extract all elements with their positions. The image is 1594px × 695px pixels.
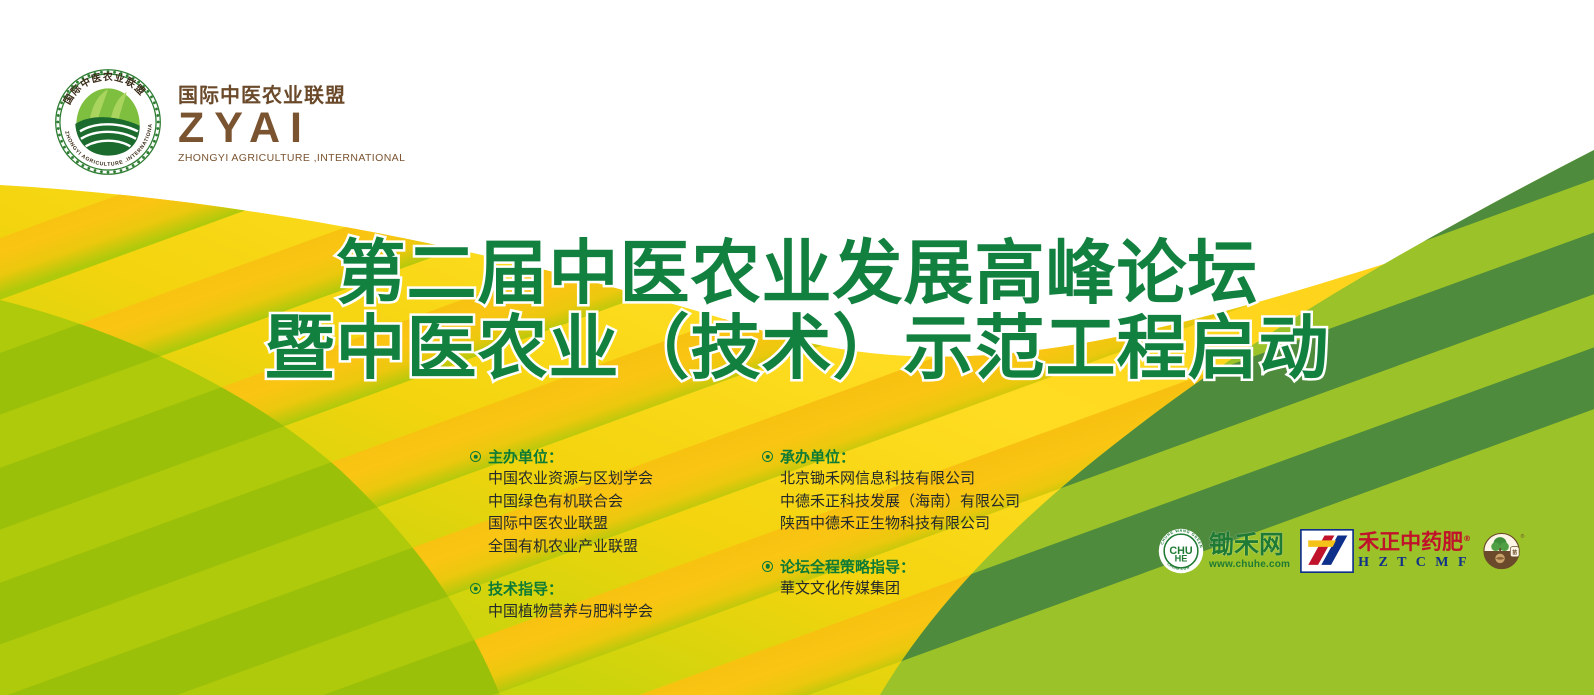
info-heading-strategy-guidance: 论坛全程策略指导：: [762, 557, 1024, 577]
bullet-icon: [762, 451, 773, 462]
list-item: 華文文化传媒集团: [780, 577, 1024, 600]
bullet-icon: [762, 561, 773, 572]
info-heading-host: 主办单位：: [470, 447, 732, 467]
list-item: 中国绿色有机联合会: [488, 490, 732, 513]
info-heading-label: 主办单位：: [488, 447, 563, 467]
chuhe-circle-logo-icon: CHUHE WANG GREEN CHUHE.COM CHU HE: [1158, 528, 1204, 574]
sponsor-tree-seed: 苗 ®: [1481, 529, 1525, 573]
info-group-technical-guidance: 技术指导： 中国植物营养与肥料学会: [470, 579, 732, 622]
sponsor-chuhe: CHUHE WANG GREEN CHUHE.COM CHU HE 锄禾网 ww…: [1158, 528, 1290, 574]
organizer-info: 主办单位： 中国农业资源与区划学会 中国绿色有机联合会 国际中医农业联盟 全国有…: [470, 447, 1024, 622]
sponsor-chuhe-url: www.chuhe.com: [1209, 560, 1290, 570]
info-heading-label: 承办单位：: [780, 447, 855, 467]
info-list-host: 中国农业资源与区划学会 中国绿色有机联合会 国际中医农业联盟 全国有机农业产业联…: [470, 467, 732, 557]
info-column-right: 承办单位： 北京锄禾网信息科技有限公司 中德禾正科技发展（海南）有限公司 陕西中…: [762, 447, 1024, 622]
zyai-logo-text: 国际中医农业联盟 ZYAI ZHONGYI AGRICULTURE ,INTER…: [178, 81, 405, 164]
info-heading-label: 技术指导：: [488, 579, 563, 599]
info-column-left: 主办单位： 中国农业资源与区划学会 中国绿色有机联合会 国际中医农业联盟 全国有…: [470, 447, 732, 622]
list-item: 陕西中德禾正生物科技有限公司: [780, 512, 1024, 535]
info-list-organizer: 北京锄禾网信息科技有限公司 中德禾正科技发展（海南）有限公司 陕西中德禾正生物科…: [762, 467, 1024, 535]
sponsor-hztcmf-name: 禾正中药肥®: [1358, 532, 1471, 553]
bullet-icon: [470, 583, 481, 594]
svg-text:®: ®: [1521, 533, 1525, 540]
zyai-emblem-icon: 国际中医农业联盟 ZHONGYI AGRICULTURE .INTERNATIO…: [52, 66, 164, 178]
info-heading-label: 论坛全程策略指导：: [780, 557, 915, 577]
list-item: 中国植物营养与肥料学会: [488, 600, 732, 623]
svg-text:HE: HE: [1175, 554, 1188, 564]
info-list-technical-guidance: 中国植物营养与肥料学会: [470, 600, 732, 623]
tree-seed-circle-logo-icon: 苗 ®: [1481, 529, 1525, 573]
sponsor-chuhe-name: 锄禾网: [1209, 532, 1290, 557]
list-item: 北京锄禾网信息科技有限公司: [780, 467, 1024, 490]
info-group-strategy-guidance: 论坛全程策略指导： 華文文化传媒集团: [762, 557, 1024, 600]
list-item: 中国农业资源与区划学会: [488, 467, 732, 490]
zyai-acronym: ZYAI: [178, 107, 405, 150]
bullet-icon: [470, 451, 481, 462]
zyai-org-name-en: ZHONGYI AGRICULTURE ,INTERNATIONAL: [178, 153, 405, 164]
sponsor-logos: CHUHE WANG GREEN CHUHE.COM CHU HE 锄禾网 ww…: [1158, 528, 1525, 574]
sponsor-hztcmf: 禾正中药肥® H Z T C M F: [1300, 529, 1471, 573]
sponsor-hztcmf-acronym: H Z T C M F: [1358, 556, 1471, 570]
zyai-logo: 国际中医农业联盟 ZHONGYI AGRICULTURE .INTERNATIO…: [52, 66, 405, 178]
info-group-organizer: 承办单位： 北京锄禾网信息科技有限公司 中德禾正科技发展（海南）有限公司 陕西中…: [762, 447, 1024, 535]
registered-mark-icon: ®: [1463, 534, 1471, 543]
poster-canvas: 国际中医农业联盟 ZHONGYI AGRICULTURE .INTERNATIO…: [0, 0, 1594, 695]
info-group-host: 主办单位： 中国农业资源与区划学会 中国绿色有机联合会 国际中医农业联盟 全国有…: [470, 447, 732, 557]
zyai-org-name-cn: 国际中医农业联盟: [178, 85, 405, 105]
info-list-strategy-guidance: 華文文化传媒集团: [762, 577, 1024, 600]
list-item: 中德禾正科技发展（海南）有限公司: [780, 490, 1024, 513]
list-item: 国际中医农业联盟: [488, 512, 732, 535]
info-heading-organizer: 承办单位：: [762, 447, 1024, 467]
info-heading-technical-guidance: 技术指导：: [470, 579, 732, 599]
sponsor-hztcmf-name-text: 禾正中药肥: [1358, 530, 1463, 554]
list-item: 全国有机农业产业联盟: [488, 535, 732, 558]
hzt-stripe-logo-icon: [1300, 529, 1354, 573]
